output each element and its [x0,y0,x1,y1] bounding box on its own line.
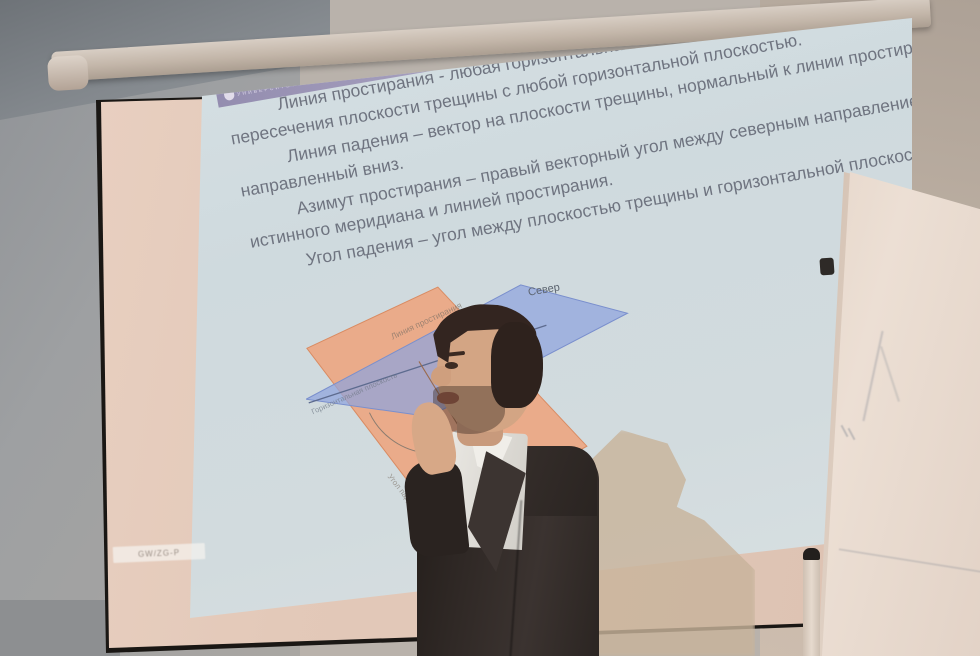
presenter-nose [431,366,451,386]
presenter-mouth [437,392,459,404]
whiteboard-pole [803,550,820,656]
whiteboard-pole-cap [803,548,820,560]
slide-body: Линия простирания - любая горизонтальная… [224,18,912,284]
presenter [385,300,600,656]
presenter-hair-back [491,322,543,408]
presenter-eye [445,362,458,369]
lecture-photo-scene: Казанский федеральный УНИВЕРСИТЕТ Элемен… [0,0,980,656]
whiteboard-clip-icon [819,258,834,276]
